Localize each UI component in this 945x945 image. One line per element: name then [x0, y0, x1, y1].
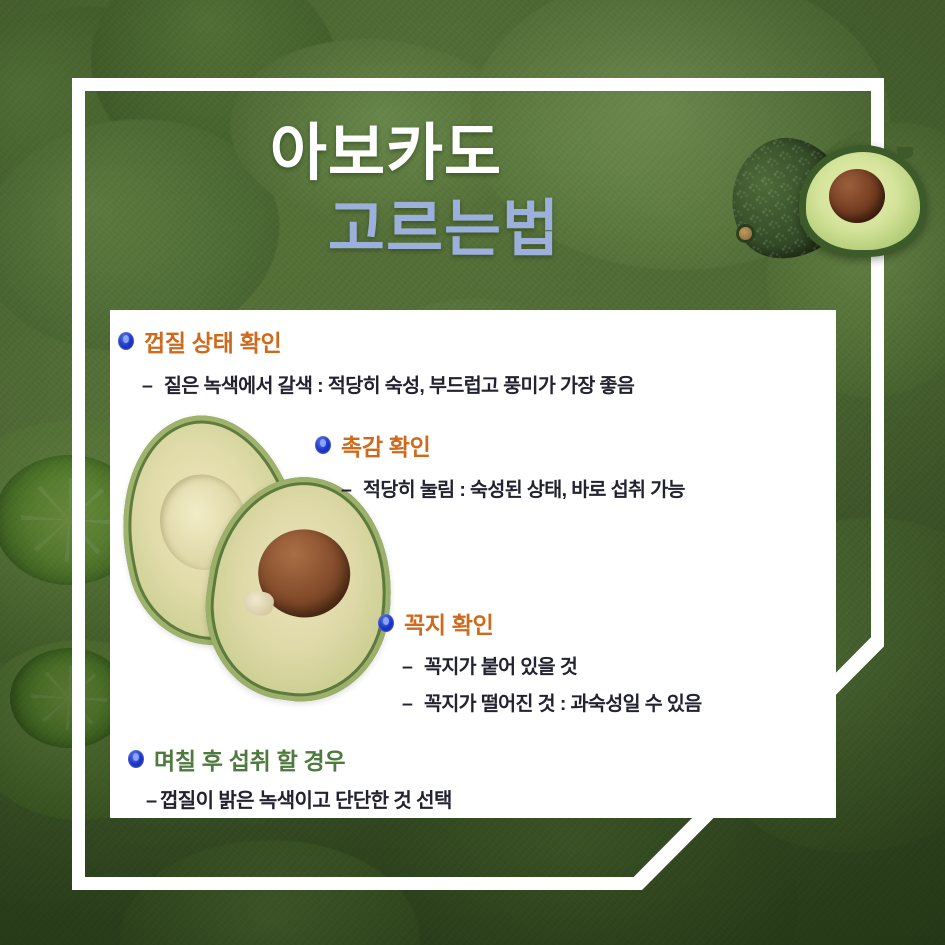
section-heading-row: 촉감 확인 — [315, 428, 685, 462]
dash-marker: – — [402, 693, 424, 716]
poster-canvas: 아보카도 고르는법 — [0, 0, 945, 945]
avocado-pit — [829, 169, 885, 223]
dash-marker: – — [142, 375, 164, 398]
title-line-2: 고르는법 — [163, 199, 725, 261]
bullet-point-icon — [315, 436, 331, 454]
section-item: – 꼭지가 붙어 있을 것 — [402, 650, 702, 679]
content-card: 껍질 상태 확인 – 짙은 녹색에서 갈색 : 적당히 숙성, 부드럽고 풍미가… — [110, 310, 836, 818]
bullet-point-icon — [128, 750, 144, 768]
avocado-stem-icon — [739, 227, 752, 240]
section-item-text: 적당히 눌림 : 숙성된 상태, 바로 섭취 가능 — [363, 473, 685, 502]
avocado-notch — [897, 147, 913, 159]
section-heading: 촉감 확인 — [341, 428, 431, 462]
title-line-1: 아보카도 — [47, 123, 725, 185]
section-item-text: 껍질이 밝은 녹색이고 단단한 것 선택 — [160, 784, 452, 813]
dash-marker: – — [146, 790, 160, 813]
section-item: – 짙은 녹색에서 갈색 : 적당히 숙성, 부드럽고 풍미가 가장 좋음 — [142, 369, 634, 398]
section-item-text: 짙은 녹색에서 갈색 : 적당히 숙성, 부드럽고 풍미가 가장 좋음 — [164, 369, 634, 398]
section-item-text: 꼭지가 떨어진 것 : 과숙성일 수 있음 — [424, 687, 702, 716]
section-heading: 껍질 상태 확인 — [144, 324, 281, 358]
section-item: – 껍질이 밝은 녹색이고 단단한 것 선택 — [146, 784, 452, 813]
section-skin-condition: 껍질 상태 확인 – 짙은 녹색에서 갈색 : 적당히 숙성, 부드럽고 풍미가… — [118, 324, 634, 398]
bullet-point-icon — [118, 332, 134, 350]
section-item: – 적당히 눌림 : 숙성된 상태, 바로 섭취 가능 — [341, 473, 685, 502]
section-item-text: 꼭지가 붙어 있을 것 — [424, 650, 577, 679]
dash-marker: – — [402, 656, 424, 679]
section-eat-later: 며칠 후 섭취 할 경우 – 껍질이 밝은 녹색이고 단단한 것 선택 — [128, 742, 452, 813]
section-texture-check: 촉감 확인 – 적당히 눌림 : 숙성된 상태, 바로 섭취 가능 — [315, 428, 685, 502]
dash-marker: – — [341, 479, 363, 502]
section-heading-row: 꼭지 확인 — [378, 606, 702, 640]
avocado-half-icon — [799, 145, 927, 257]
section-heading-row: 며칠 후 섭취 할 경우 — [128, 742, 452, 776]
bullet-point-icon — [378, 614, 394, 632]
avocado-pit-chip — [242, 589, 275, 617]
section-stem-check: 꼭지 확인 – 꼭지가 붙어 있을 것 – 꼭지가 떨어진 것 : 과숙성일 수… — [378, 606, 702, 716]
section-heading: 며칠 후 섭취 할 경우 — [154, 742, 345, 776]
section-item: – 꼭지가 떨어진 것 : 과숙성일 수 있음 — [402, 687, 702, 716]
hero-avocado-image — [721, 131, 929, 271]
section-heading: 꼭지 확인 — [404, 606, 494, 640]
poster-title: 아보카도 고르는법 — [85, 123, 725, 261]
hero-section: 아보카도 고르는법 — [85, 91, 871, 321]
section-heading-row: 껍질 상태 확인 — [118, 324, 634, 358]
